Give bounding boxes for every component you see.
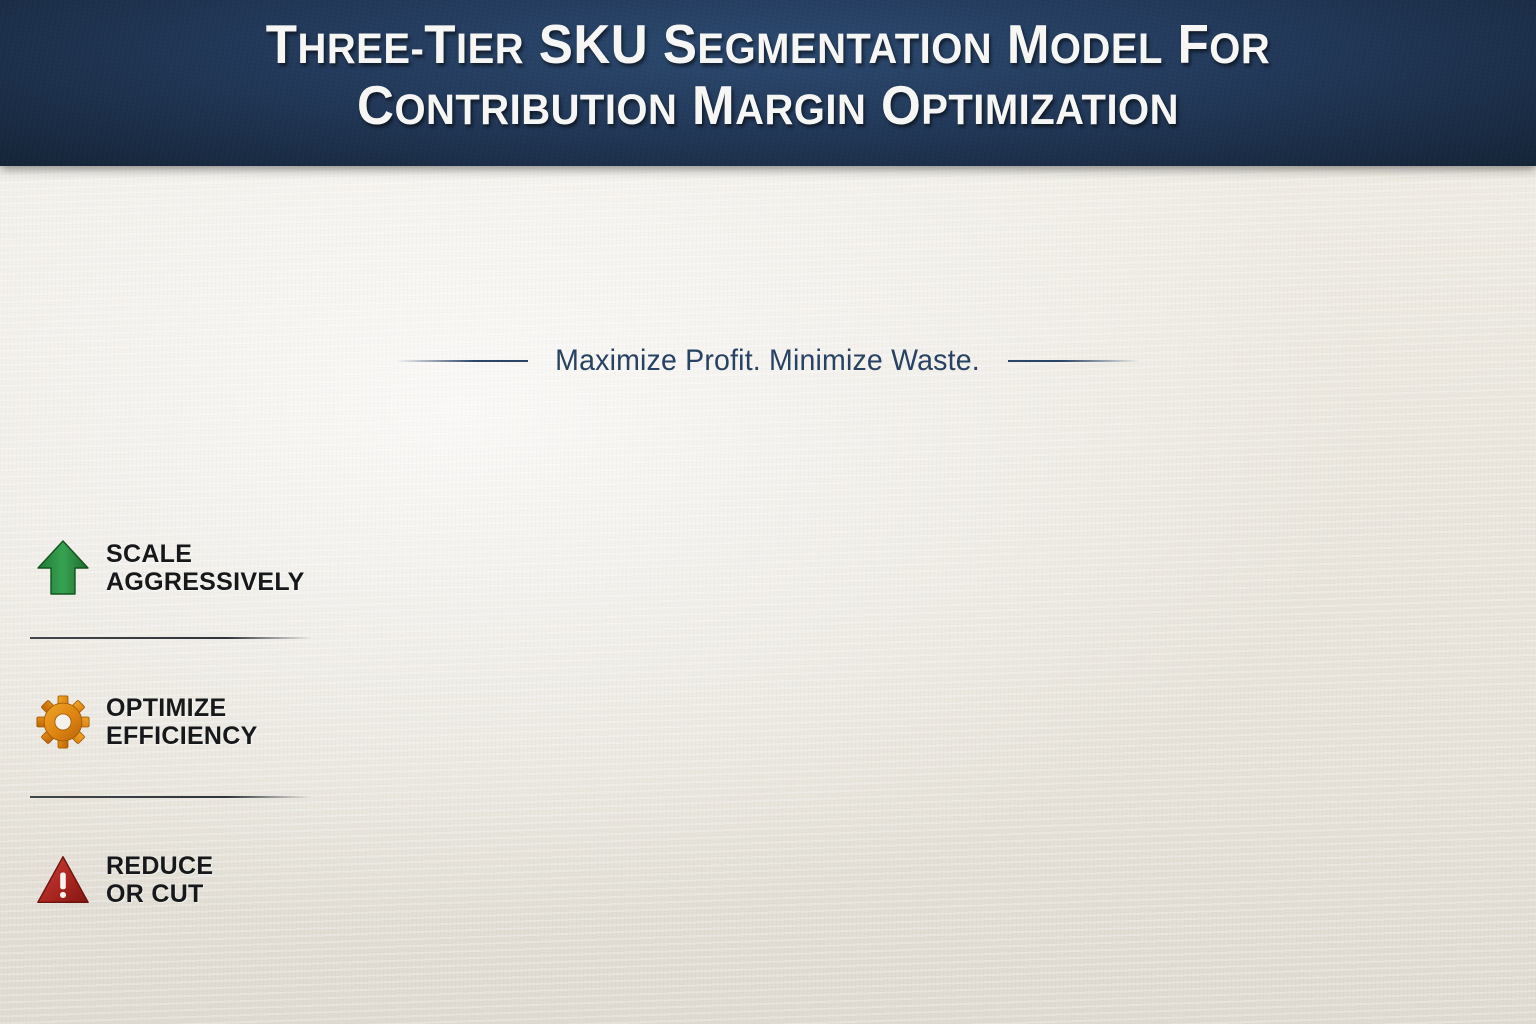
up-arrow-icon xyxy=(36,538,90,598)
gear-icon xyxy=(36,692,90,752)
legend-item-reduce: REDUCE OR CUT xyxy=(0,850,294,910)
infographic-poster: THREE-TIER SKU SEGMENTATION MODEL FOR CO… xyxy=(0,0,1536,1024)
page-title-line-2: CONTRIBUTION MARGIN OPTIMIZATION xyxy=(54,77,1482,134)
legend-item-scale: SCALE AGGRESSIVELY xyxy=(0,538,294,598)
subtitle-rule-left xyxy=(396,360,528,362)
warning-triangle-icon xyxy=(36,850,90,910)
subtitle-rule-right xyxy=(1008,360,1140,362)
title-text-2: CONTRIBUTION MARGIN OPTIMIZATION xyxy=(357,74,1179,136)
legend-item-label: REDUCE OR CUT xyxy=(106,852,213,908)
legend-column: SCALE AGGRESSIVELY xyxy=(0,200,330,1024)
legend-divider-2 xyxy=(30,796,312,798)
legend-item-label: OPTIMIZE EFFICIENCY xyxy=(106,694,258,750)
page-title-line-1: THREE-TIER SKU SEGMENTATION MODEL FOR xyxy=(54,16,1482,73)
title-text-1: THREE-TIER SKU SEGMENTATION MODEL FOR xyxy=(266,13,1270,75)
legend-item-optimize: OPTIMIZE EFFICIENCY xyxy=(0,692,294,752)
legend-divider-1 xyxy=(30,637,312,639)
header-band: THREE-TIER SKU SEGMENTATION MODEL FOR CO… xyxy=(0,0,1536,166)
legend-item-label: SCALE AGGRESSIVELY xyxy=(106,540,305,596)
subtitle-text: Maximize Profit. Minimize Waste. xyxy=(556,344,981,378)
